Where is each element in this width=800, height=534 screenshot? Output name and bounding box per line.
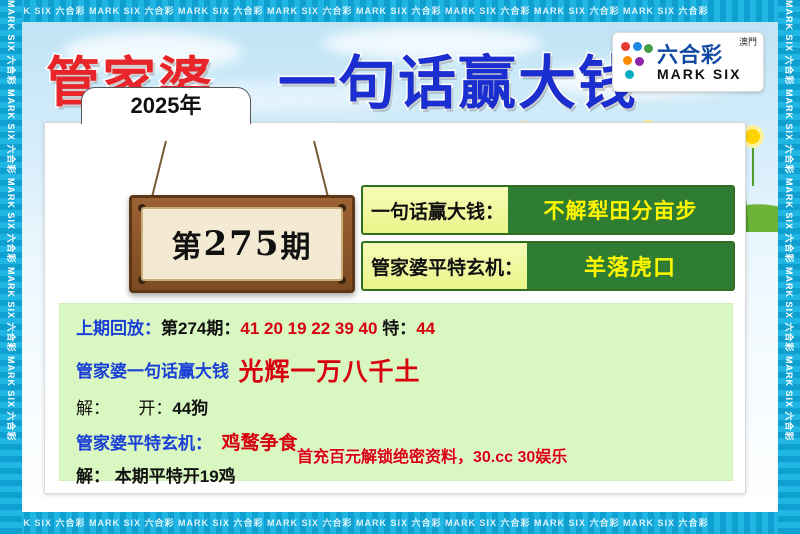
history-answer-row: 解： 本期平特开19鸡: [76, 462, 236, 487]
lottery-balls-icon: [621, 42, 653, 82]
poster-stage: 管家婆 一句话赢大钱 澳門 六合彩 MARK SIX 2025年: [22, 22, 778, 512]
issue-sign-plate: 第 275 期: [141, 207, 343, 281]
frame-left: MARK SIX 六合彩 MARK SIX 六合彩 MARK SIX 六合彩 M…: [0, 0, 22, 534]
logo-name-cn: 六合彩: [657, 39, 723, 69]
mark-six-logo: 澳門 六合彩 MARK SIX: [612, 32, 764, 92]
open-value: 44狗: [172, 399, 208, 418]
title-slogan: 一句话赢大钱: [278, 36, 638, 120]
issue-sign: 第 275 期: [129, 195, 355, 293]
frame-left-text: MARK SIX 六合彩 MARK SIX 六合彩 MARK SIX 六合彩 M…: [0, 0, 22, 534]
banner-phrase-label: 一句话赢大钱：: [363, 187, 508, 233]
banner-phrase-value: 不解犁田分亩步: [508, 187, 733, 233]
replay-numbers: 41 20 19 22 39 40: [240, 319, 377, 338]
hanging-string: [151, 141, 167, 198]
year-tab: 2025年: [81, 87, 251, 124]
xuanji-value: 鸡鹜争食: [221, 433, 297, 454]
content-card: 2025年 第 275 期 一句话赢大钱： 不解犁田分亩步: [44, 122, 746, 494]
issue-number: 275: [204, 224, 281, 264]
poster-root: MARK SIX 六合彩 MARK SIX 六合彩 MARK SIX 六合彩 M…: [0, 0, 800, 534]
banner-phrase: 一句话赢大钱： 不解犁田分亩步: [361, 185, 735, 235]
answer-label: 解：: [76, 467, 110, 486]
history-solve-row: 解： 开：44狗: [76, 394, 208, 419]
replay-special-label: 特：: [382, 319, 416, 338]
frame-bottom-text: MARK SIX 六合彩 MARK SIX 六合彩 MARK SIX 六合彩 M…: [0, 518, 709, 528]
issue-prefix: 第: [172, 222, 204, 266]
hanging-string: [313, 141, 329, 198]
frame-bottom: MARK SIX 六合彩 MARK SIX 六合彩 MARK SIX 六合彩 M…: [0, 512, 800, 534]
flower-yellow: [745, 129, 760, 144]
phrase-label: 管家婆一句话赢大钱: [76, 362, 229, 381]
phrase-value: 光辉一万八千土: [238, 358, 420, 386]
flower-stem: [752, 138, 754, 186]
replay-label: 上期回放：: [76, 319, 161, 338]
banner-xuanji-label: 管家婆平特玄机：: [363, 243, 527, 289]
replay-special-number: 44: [416, 319, 435, 338]
promo-watermark: 首充百元解锁绝密资料，30.cc 30娱乐: [297, 443, 727, 467]
frame-top: MARK SIX 六合彩 MARK SIX 六合彩 MARK SIX 六合彩 M…: [0, 0, 800, 22]
frame-right-text: MARK SIX 六合彩 MARK SIX 六合彩 MARK SIX 六合彩 M…: [778, 0, 800, 534]
logo-name-en: MARK SIX: [657, 66, 741, 82]
replay-issue: 第274期：: [161, 319, 240, 338]
history-replay-row: 上期回放：第274期：41 20 19 22 39 40 特：44: [76, 314, 435, 339]
history-phrase-row: 管家婆一句话赢大钱 光辉一万八千土: [76, 352, 420, 388]
answer-value: 本期平特开19鸡: [115, 467, 236, 486]
banner-xuanji-value: 羊落虎口: [527, 243, 733, 289]
issue-suffix: 期: [280, 222, 312, 266]
solve-label: 解：: [76, 399, 110, 418]
frame-top-text: MARK SIX 六合彩 MARK SIX 六合彩 MARK SIX 六合彩 M…: [0, 6, 709, 16]
xuanji-label: 管家婆平特玄机：: [76, 434, 212, 453]
frame-right: MARK SIX 六合彩 MARK SIX 六合彩 MARK SIX 六合彩 M…: [778, 0, 800, 534]
banner-xuanji: 管家婆平特玄机： 羊落虎口: [361, 241, 735, 291]
open-label: 开：: [138, 399, 172, 418]
logo-region: 澳門: [739, 35, 757, 48]
history-xuanji-row: 管家婆平特玄机： 鸡鹜争食: [76, 428, 297, 455]
